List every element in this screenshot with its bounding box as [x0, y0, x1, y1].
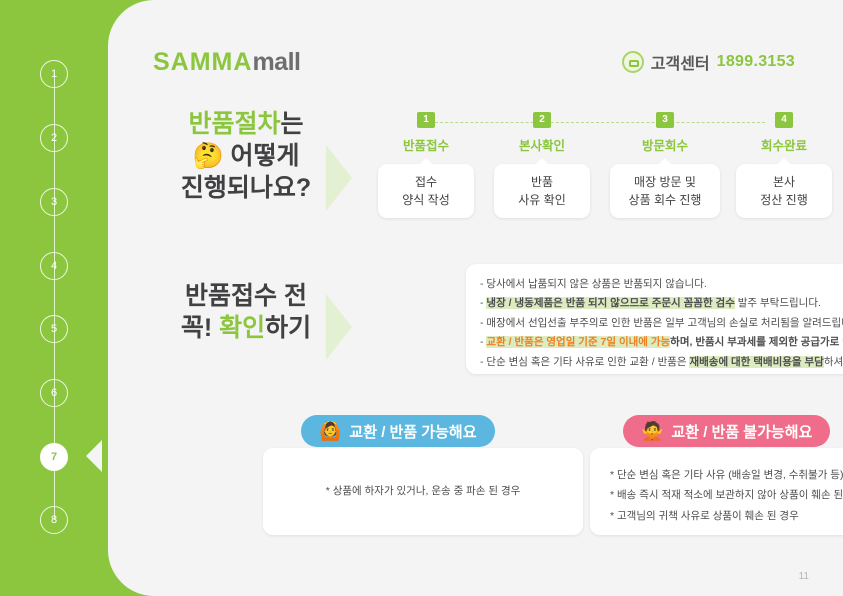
denied-item-1: * 단순 변심 혹은 기타 사유 (배송일 변경, 수취불가 등)의 경우 — [610, 465, 843, 485]
flow-step-1-desc2: 양식 작성 — [402, 193, 450, 207]
rail-step-7[interactable]: 7 — [40, 443, 68, 471]
customer-center-label: 고객센터 — [651, 50, 710, 74]
flow-step-4-desc2: 정산 진행 — [760, 193, 808, 207]
notice-line-4: - 교환 / 반품은 영업일 기준 7일 이내에 가능하며, 반품시 부과세를 … — [480, 333, 843, 352]
notice-line-2: - 냉장 / 냉동제품은 반품 되지 않으므로 주문시 꼼꼼한 검수 발주 부탁… — [480, 294, 843, 313]
section2-title: 반품접수 전 꼭! 확인하기 — [146, 280, 346, 344]
section1-title-line2: 어떻게 — [231, 142, 300, 170]
slide-panel: SAMMAmall 고객센터 1899.3153 반품절차는 🤔 어떻게 진행되… — [108, 0, 843, 596]
notice-line-5: - 단순 변심 혹은 기타 사유로 인한 교환 / 반품은 재배송에 대한 택배… — [480, 353, 843, 372]
section1-title-line3: 진행되나요? — [146, 172, 346, 204]
exchange-denied-badge: 🙅 교환 / 반품 불가능해요 — [623, 415, 830, 447]
flow-step-4-desc1: 본사 — [773, 175, 795, 189]
section1-title-green: 반품절차 — [188, 110, 280, 138]
notice-line-1: - 당사에서 납품되지 않은 상품은 반품되지 않습니다. — [480, 275, 843, 294]
section1-arrow-icon — [326, 145, 352, 211]
flow-step-1-card: 접수양식 작성 — [378, 164, 474, 218]
flow-step-3-title: 방문회수 — [610, 135, 720, 154]
brand-logo: SAMMAmall — [153, 48, 300, 77]
flow-step-1[interactable]: 1 반품접수 접수양식 작성 — [378, 112, 474, 218]
exchange-allowed-box: * 상품에 하자가 있거나, 운송 중 파손 된 경우 — [263, 448, 583, 535]
exchange-allowed-badge: 🙆 교환 / 반품 가능해요 — [301, 415, 495, 447]
rail-step-8[interactable]: 8 — [40, 506, 68, 534]
exchange-allowed-label: 교환 / 반품 가능해요 — [349, 421, 476, 442]
active-step-arrow-icon — [86, 440, 102, 472]
left-navigation-rail: 1 2 3 4 5 6 7 8 — [0, 0, 115, 596]
flow-step-3-desc1: 매장 방문 및 — [634, 175, 696, 189]
flow-step-1-desc1: 접수 — [415, 175, 437, 189]
headset-icon — [622, 51, 644, 73]
section1-title-suffix: 는 — [281, 110, 304, 138]
rail-step-6[interactable]: 6 — [40, 379, 68, 407]
exchange-denied-label: 교환 / 반품 불가능해요 — [671, 421, 812, 442]
flow-step-2-title: 본사확인 — [494, 135, 590, 154]
flow-step-3-desc2: 상품 회수 진행 — [629, 193, 702, 207]
rail-step-4[interactable]: 4 — [40, 252, 68, 280]
section2-title-green: 확인 — [219, 314, 265, 342]
section2-title-line2b: 하기 — [265, 314, 311, 342]
section2-title-line1: 반품접수 전 — [146, 280, 346, 312]
notice-box: - 당사에서 납품되지 않은 상품은 반품되지 않습니다. - 냉장 / 냉동제… — [466, 264, 843, 374]
flow-step-2-card: 반품사유 확인 — [494, 164, 590, 218]
customer-center-number: 1899.3153 — [717, 53, 795, 71]
section2-title-line2a: 꼭! — [181, 314, 212, 342]
flow-step-4-number: 4 — [775, 112, 793, 128]
section2-arrow-icon — [326, 294, 352, 360]
notice-line-2-post: 발주 부탁드립니다. — [735, 297, 821, 309]
flow-step-2[interactable]: 2 본사확인 반품사유 확인 — [494, 112, 590, 218]
ok-gesture-icon: 🙆 — [319, 422, 341, 440]
notice-line-5-highlight: 재배송에 대한 택배비용을 부담 — [689, 356, 823, 368]
flow-step-3[interactable]: 3 방문회수 매장 방문 및상품 회수 진행 — [610, 112, 720, 218]
flow-step-4-card: 본사정산 진행 — [736, 164, 832, 218]
brand-logo-secondary: mall — [252, 48, 300, 76]
flow-step-3-number: 3 — [656, 112, 674, 128]
notice-line-4-post: 하며, 반품시 부과세를 제외한 공급가로 반품 됩니다. — [670, 336, 843, 348]
brand-logo-primary: SAMMA — [153, 48, 252, 76]
notice-line-4-orange: 교환 / 반품은 영업일 기준 7일 이내에 가능 — [486, 336, 670, 348]
rail-step-2[interactable]: 2 — [40, 124, 68, 152]
no-gesture-icon: 🙅 — [641, 422, 663, 440]
rail-step-5[interactable]: 5 — [40, 315, 68, 343]
flow-step-1-title: 반품접수 — [378, 135, 474, 154]
flow-step-2-desc2: 사유 확인 — [518, 193, 566, 207]
flow-step-4-title: 회수완료 — [736, 135, 832, 154]
denied-item-3: * 고객님의 귀책 사유로 상품이 훼손 된 경우 — [610, 506, 843, 526]
flow-step-3-card: 매장 방문 및상품 회수 진행 — [610, 164, 720, 218]
customer-center: 고객센터 1899.3153 — [622, 50, 795, 74]
thinking-face-icon: 🤔 — [192, 142, 223, 170]
flow-step-2-number: 2 — [533, 112, 551, 128]
exchange-denied-box: * 단순 변심 혹은 기타 사유 (배송일 변경, 수취불가 등)의 경우 * … — [590, 448, 843, 535]
return-flow-steps: 1 반품접수 접수양식 작성 2 본사확인 반품사유 확인 3 방문회수 매장 … — [378, 112, 808, 227]
rail-step-1[interactable]: 1 — [40, 60, 68, 88]
notice-line-3: - 매장에서 선입선출 부주의로 인한 반품은 일부 고객님의 손실로 처리됨을… — [480, 314, 843, 333]
section1-title: 반품절차는 🤔 어떻게 진행되나요? — [146, 108, 346, 204]
flow-step-4[interactable]: 4 회수완료 본사정산 진행 — [736, 112, 832, 218]
notice-line-5-pre: - 단순 변심 혹은 기타 사유로 인한 교환 / 반품은 — [480, 356, 689, 368]
allowed-item-1: * 상품에 하자가 있거나, 운송 중 파손 된 경우 — [326, 481, 521, 501]
page-number: 11 — [799, 571, 809, 582]
denied-item-2: * 배송 즉시 적재 적소에 보관하지 않아 상품이 훼손 된 경우 — [610, 485, 843, 505]
flow-step-2-desc1: 반품 — [531, 175, 553, 189]
notice-line-5-post: 하셔야합니다. — [824, 356, 843, 368]
rail-step-3[interactable]: 3 — [40, 188, 68, 216]
flow-step-1-number: 1 — [417, 112, 435, 128]
notice-line-2-highlight: 냉장 / 냉동제품은 반품 되지 않으므로 주문시 꼼꼼한 검수 — [486, 297, 734, 309]
